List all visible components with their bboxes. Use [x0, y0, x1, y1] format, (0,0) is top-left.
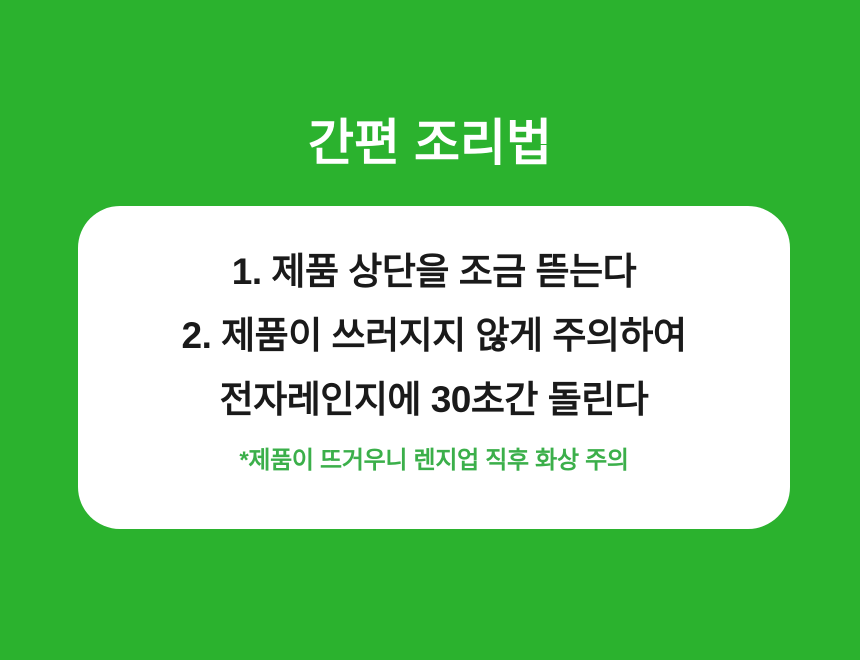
list-item: 2. 제품이 쓰러지지 않게 주의하여: [78, 304, 790, 368]
list-item: 전자레인지에 30초간 돌린다: [78, 368, 790, 432]
cooking-instructions-poster: 간편 조리법 1. 제품 상단을 조금 뜯는다 2. 제품이 쓰러지지 않게 주…: [0, 0, 860, 660]
page-title: 간편 조리법: [0, 113, 860, 173]
caution-note: *제품이 뜨거우니 렌지업 직후 화상 주의: [78, 446, 790, 476]
cooking-step-list: 1. 제품 상단을 조금 뜯는다 2. 제품이 쓰러지지 않게 주의하여 전자레…: [78, 240, 790, 432]
instruction-card: 1. 제품 상단을 조금 뜯는다 2. 제품이 쓰러지지 않게 주의하여 전자레…: [78, 206, 790, 529]
list-item: 1. 제품 상단을 조금 뜯는다: [78, 240, 790, 304]
